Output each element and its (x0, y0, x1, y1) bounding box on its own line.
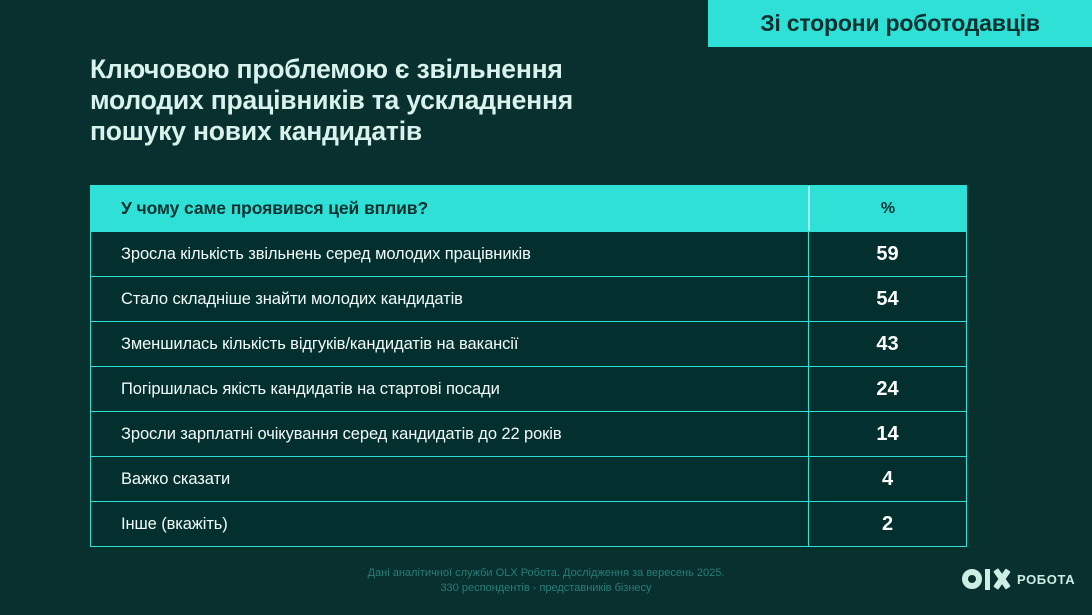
table-header-value: % (808, 186, 966, 231)
logo-wordmark: РОБОТА (1017, 572, 1075, 587)
table-row-value: 59 (808, 232, 966, 276)
page-title: Ключовою проблемою є звільнення молодих … (90, 54, 690, 147)
table-row-value: 4 (808, 457, 966, 501)
page-title-line-2: молодих працівників та ускладнення (90, 85, 690, 116)
table-header-label: У чому саме проявився цей вплив? (91, 186, 808, 231)
source-footnote: Дані аналітичної служби OLX Робота. Досл… (0, 566, 1092, 596)
table-row: Інше (вкажіть) 2 (91, 501, 966, 546)
olx-bar-glyph (985, 569, 990, 590)
table-row-label: Зменшилась кількість відгуків/кандидатів… (91, 322, 808, 366)
page-title-line-1: Ключовою проблемою є звільнення (90, 54, 690, 85)
table-row: Важко сказати 4 (91, 456, 966, 501)
table-row-value: 54 (808, 277, 966, 321)
olx-o-glyph (962, 569, 982, 589)
olx-robota-logo: РОБОТА (962, 566, 1075, 592)
table-row-value: 24 (808, 367, 966, 411)
olx-x-glyph (993, 569, 1010, 589)
table-row: Стало складніше знайти молодих кандидаті… (91, 276, 966, 321)
results-table: У чому саме проявився цей вплив? % Зросл… (90, 185, 967, 547)
table-row: Зросла кількість звільнень серед молодих… (91, 231, 966, 276)
source-footnote-line-1: Дані аналітичної служби OLX Робота. Досл… (0, 566, 1092, 581)
source-footnote-line-2: 330 респондентів - представників бізнесу (0, 581, 1092, 596)
table-row: Погіршилась якість кандидатів на стартов… (91, 366, 966, 411)
table-row-value: 2 (808, 502, 966, 546)
section-banner: Зі сторони роботодавців (708, 0, 1092, 47)
table-row-label: Погіршилась якість кандидатів на стартов… (91, 367, 808, 411)
table-row-value: 43 (808, 322, 966, 366)
olx-logo-icon (962, 569, 1010, 590)
page-title-line-3: пошуку нових кандидатів (90, 116, 690, 147)
table-row: Зросли зарплатні очікування серед кандид… (91, 411, 966, 456)
slide-root: Зі сторони роботодавців Ключовою проблем… (0, 0, 1092, 615)
banner-label: Зі сторони роботодавців (760, 10, 1040, 37)
table-row: Зменшилась кількість відгуків/кандидатів… (91, 321, 966, 366)
table-row-label: Стало складніше знайти молодих кандидаті… (91, 277, 808, 321)
table-row-label: Важко сказати (91, 457, 808, 501)
table-row-value: 14 (808, 412, 966, 456)
table-header-row: У чому саме проявився цей вплив? % (91, 186, 966, 231)
table-row-label: Інше (вкажіть) (91, 502, 808, 546)
table-row-label: Зросла кількість звільнень серед молодих… (91, 232, 808, 276)
table-row-label: Зросли зарплатні очікування серед кандид… (91, 412, 808, 456)
